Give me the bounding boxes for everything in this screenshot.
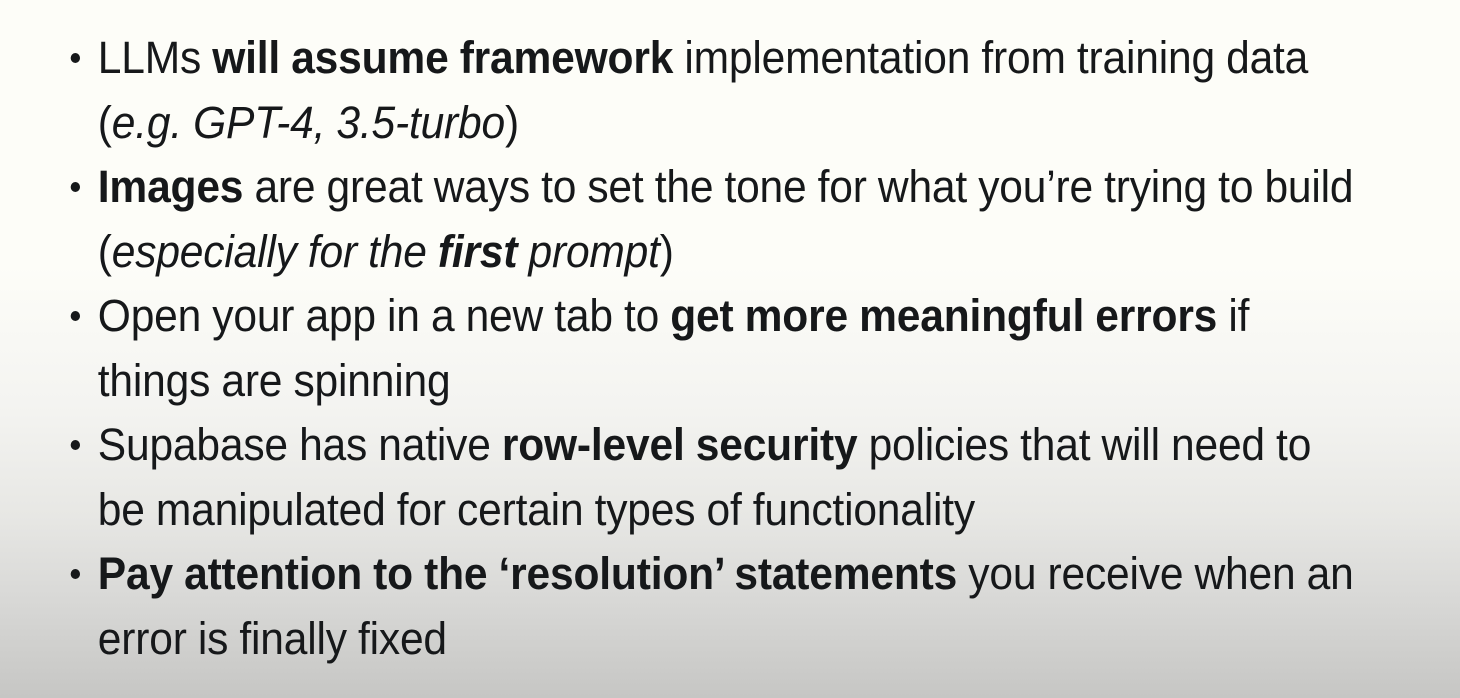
bullet-text: LLMs will assume framework implementatio… <box>98 26 1360 155</box>
list-item: LLMs will assume framework implementatio… <box>66 26 1360 155</box>
list-item: Supabase has native row-level security p… <box>66 413 1360 542</box>
bullet-text: Open your app in a new tab to get more m… <box>98 284 1360 413</box>
bullet-point-icon <box>71 53 80 63</box>
bullet-text: Pay attention to the ‘resolution’ statem… <box>98 542 1360 671</box>
bullet-list: LLMs will assume framework implementatio… <box>66 26 1450 671</box>
bullet-point-icon <box>71 311 80 321</box>
list-item: Pay attention to the ‘resolution’ statem… <box>66 542 1360 671</box>
bullet-point-icon <box>71 569 80 579</box>
list-item: Open your app in a new tab to get more m… <box>66 284 1360 413</box>
bullet-point-icon <box>71 182 80 192</box>
slide-canvas: LLMs will assume framework implementatio… <box>0 0 1460 698</box>
bullet-text: Supabase has native row-level security p… <box>98 413 1360 542</box>
bullet-point-icon <box>71 440 80 450</box>
bullet-text: Images are great ways to set the tone fo… <box>98 155 1360 284</box>
list-item: Images are great ways to set the tone fo… <box>66 155 1360 284</box>
